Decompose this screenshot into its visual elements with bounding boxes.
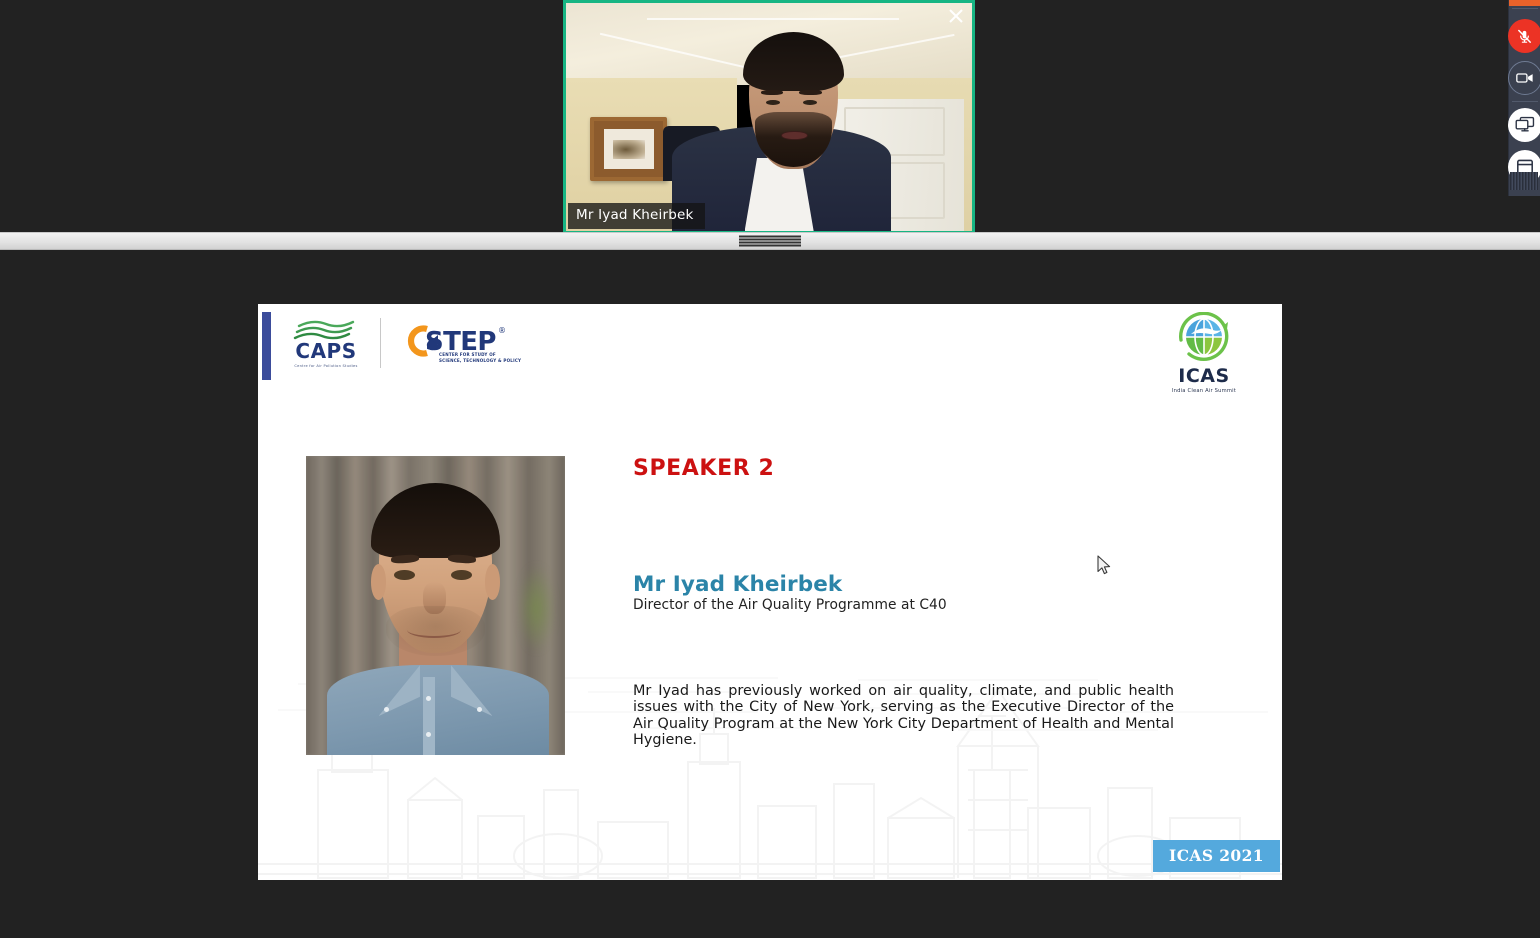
logo-divider (380, 318, 381, 368)
caps-waves-icon (290, 319, 362, 341)
meeting-toolbar (1508, 0, 1540, 196)
speaker-tag: SPEAKER 2 (633, 456, 774, 481)
screen-share-icon (1515, 116, 1535, 134)
speaker-headshot (306, 456, 565, 755)
share-screen-button[interactable] (1508, 108, 1540, 142)
cstep-logo: STEP ® CENTER FOR STUDY OF SCIENCE, TECH… (399, 319, 519, 367)
speaker-bio: Mr Iyad has previously worked on air qua… (633, 683, 1174, 748)
cstep-subtitle: CENTER FOR STUDY OF SCIENCE, TECHNOLOGY … (439, 352, 531, 364)
presentation-slide[interactable]: CAPS Centre for Air Pollution Studies ST… (258, 304, 1282, 880)
toolbar-top-strip (1509, 0, 1540, 6)
camera-button[interactable] (1508, 61, 1540, 95)
video-region: Mr Iyad Kheirbek (0, 0, 1540, 232)
video-wall-picture (590, 117, 667, 181)
partner-logos: CAPS Centre for Air Pollution Studies ST… (290, 318, 519, 368)
slide-stage: CAPS Centre for Air Pollution Studies ST… (0, 250, 1540, 938)
presentation-window: Mr Iyad Kheirbek (0, 0, 1540, 938)
video-person-brow-right (799, 90, 821, 95)
video-person-brow-left (761, 90, 783, 95)
drag-handle-icon[interactable] (739, 236, 801, 247)
toolbar-divider-2 (1512, 101, 1538, 102)
svg-text:®: ® (498, 326, 506, 335)
microphone-muted-button[interactable] (1508, 19, 1540, 53)
slide-accent-bar (262, 312, 271, 380)
icas-year-badge: ICAS 2021 (1153, 840, 1280, 872)
video-camera-icon (1516, 71, 1534, 85)
participant-name-label: Mr Iyad Kheirbek (568, 203, 705, 230)
microphone-muted-icon (1516, 28, 1533, 45)
participant-video-panel[interactable]: Mr Iyad Kheirbek (563, 0, 975, 234)
caps-subtitle: Centre for Air Pollution Studies (290, 364, 362, 368)
close-icon[interactable] (946, 6, 966, 26)
icas-globe-icon (1171, 312, 1237, 362)
video-person-mouth (781, 131, 807, 141)
video-feed (566, 3, 972, 231)
video-person-eye-right (803, 100, 817, 105)
toolbar-divider (1512, 8, 1538, 9)
caps-logo: CAPS Centre for Air Pollution Studies (290, 319, 362, 368)
icas-subtitle: India Clean Air Summit (1170, 388, 1238, 394)
panel-splitter[interactable] (0, 232, 1540, 250)
icas-wordmark: ICAS (1170, 367, 1238, 386)
resize-handle-icon[interactable] (1510, 172, 1538, 190)
caps-wordmark: CAPS (290, 341, 362, 362)
speaker-name: Mr Iyad Kheirbek (633, 572, 842, 597)
video-person-eye-left (766, 100, 780, 105)
icas-logo: ICAS India Clean Air Summit (1170, 312, 1238, 394)
speaker-role: Director of the Air Quality Programme at… (633, 597, 947, 613)
